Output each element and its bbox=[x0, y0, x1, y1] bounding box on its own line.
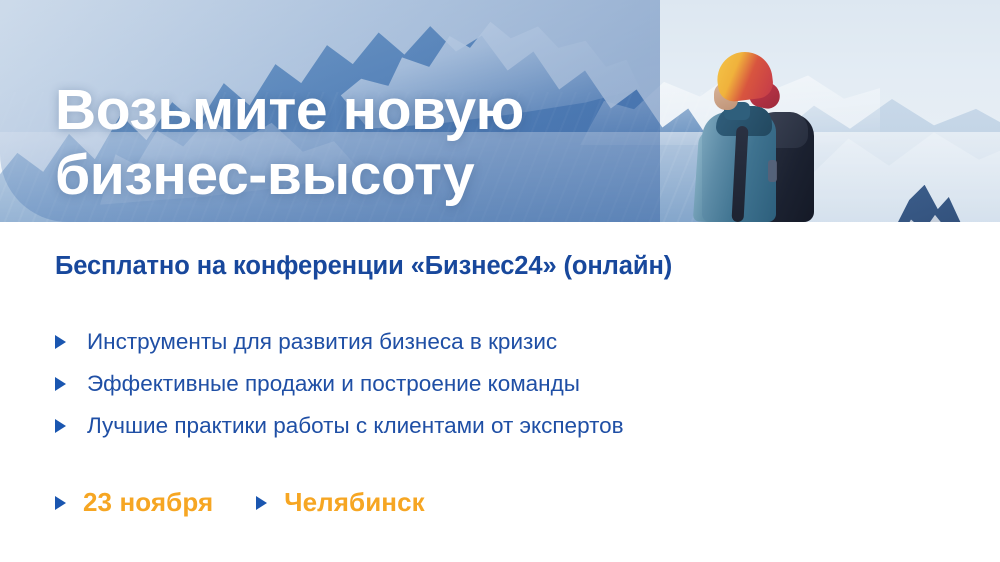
benefits-list: Инструменты для развития бизнеса в кризи… bbox=[55, 321, 875, 447]
headline-line-2: бизнес-высоту bbox=[55, 143, 675, 207]
event-date: 23 ноября bbox=[83, 487, 213, 518]
beanie-icon bbox=[714, 49, 774, 103]
hiker-figure bbox=[690, 52, 830, 222]
event-city: Челябинск bbox=[284, 487, 425, 518]
backpack-buckle-icon bbox=[768, 160, 777, 182]
triangle-right-icon bbox=[55, 377, 66, 391]
list-item-label: Инструменты для развития бизнеса в кризи… bbox=[87, 329, 557, 355]
triangle-right-icon bbox=[55, 335, 66, 349]
list-item: Лучшие практики работы с клиентами от эк… bbox=[55, 405, 875, 447]
list-item: Эффективные продажи и построение команды bbox=[55, 363, 875, 405]
hero-photo-main-band: Возьмите новую бизнес-высоту bbox=[0, 0, 1000, 222]
list-item-label: Лучшие практики работы с клиентами от эк… bbox=[87, 413, 624, 439]
page-title: Возьмите новую бизнес-высоту bbox=[55, 78, 675, 207]
triangle-right-icon bbox=[55, 496, 66, 510]
list-item-label: Эффективные продажи и построение команды bbox=[87, 371, 580, 397]
subtitle: Бесплатно на конференции «Бизнес24» (онл… bbox=[55, 252, 672, 281]
triangle-right-icon bbox=[256, 496, 267, 510]
content-panel: Бесплатно на конференции «Бизнес24» (онл… bbox=[0, 222, 1000, 562]
list-item: Инструменты для развития бизнеса в кризи… bbox=[55, 321, 875, 363]
triangle-right-icon bbox=[55, 419, 66, 433]
promo-banner: Возьмите новую бизнес-высоту Бесплатно н… bbox=[0, 0, 1000, 562]
event-meta-row: 23 ноября Челябинск bbox=[55, 487, 425, 518]
headline-line-1: Возьмите новую bbox=[55, 78, 524, 142]
